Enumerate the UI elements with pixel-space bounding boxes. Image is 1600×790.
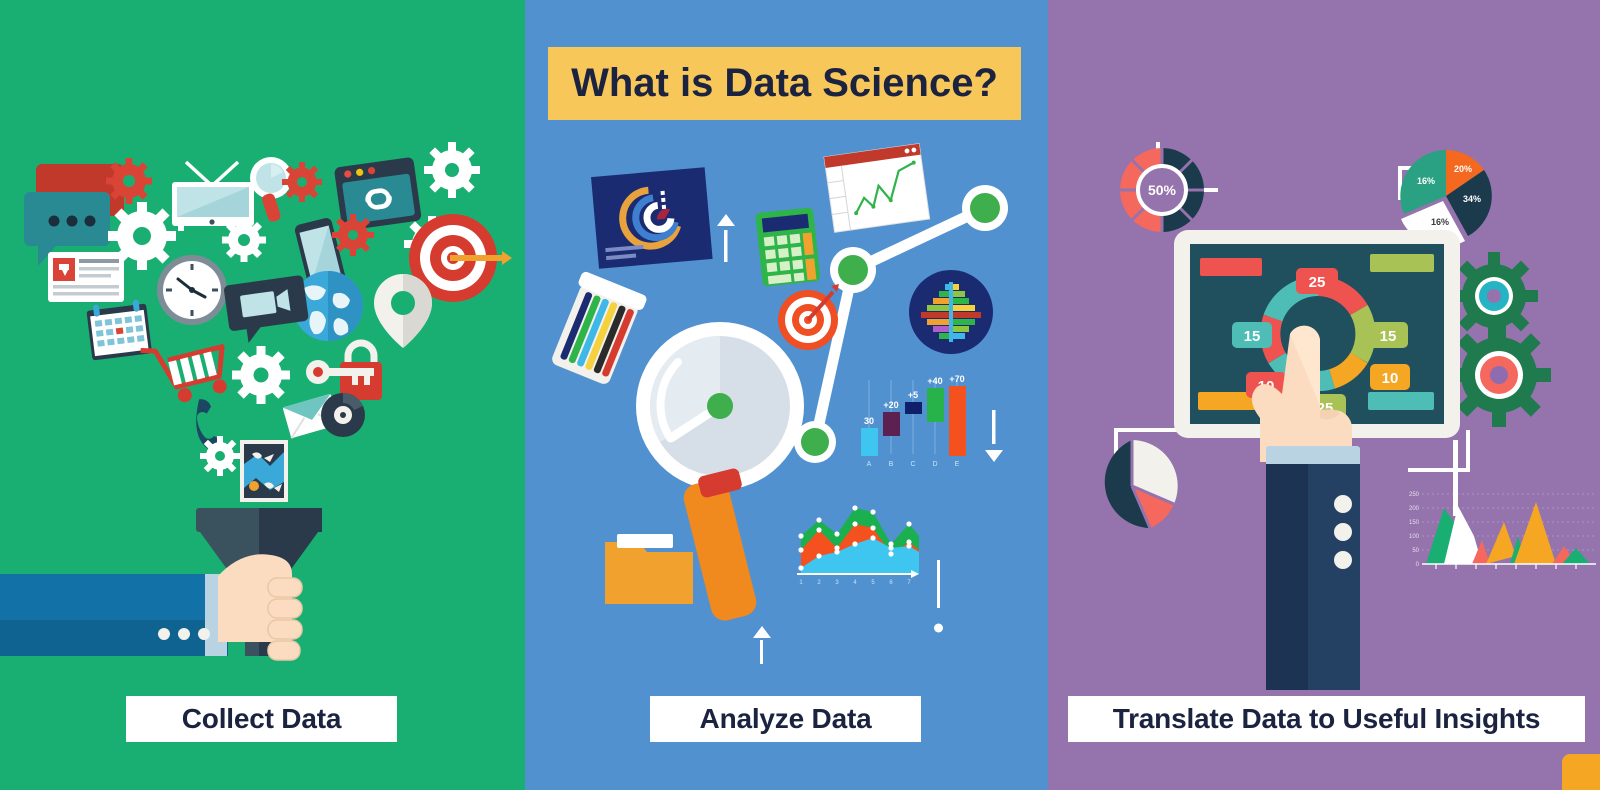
gear-white-tiny-icon [200,436,240,476]
caption-translate-data: Translate Data to Useful Insights [1068,696,1585,742]
panel-translate-data: 50% 20% 34% 16% 16% [1048,0,1600,790]
title-banner: What is Data Science? [548,47,1021,120]
gear-red-small-2-icon [282,162,322,202]
svg-text:+40: +40 [927,376,942,386]
gear-red-small-3-icon [332,214,374,256]
svg-text:5: 5 [871,580,875,586]
folder-icon [603,528,695,604]
caption-collect-data: Collect Data [126,696,397,742]
mountain-area-chart-icon: 250200150 100500 [1400,484,1600,582]
pointer-line [1453,440,1458,516]
gear-white-lower-icon [232,346,290,404]
panel-analyze-data: 30+20+5 +40+70 ABC DE [525,0,1048,790]
arrow-down-icon [983,408,1005,464]
svg-text:+5: +5 [908,390,918,400]
svg-text:3: 3 [835,580,839,586]
area-chart-icon: 1234 567 [793,490,923,590]
svg-text:7: 7 [907,580,911,586]
svg-text:0: 0 [1416,562,1420,568]
svg-text:30: 30 [864,416,874,426]
arrow-up-bottom-icon [751,624,773,666]
title-text: What is Data Science? [571,61,998,106]
divider-line-icon [933,560,945,640]
caption-analyze-label: Analyze Data [700,703,872,735]
svg-text:50%: 50% [1148,182,1177,198]
svg-text:+70: +70 [949,374,964,384]
sleeve-right-buttons-icon [1326,490,1360,580]
corner-accent [1562,754,1600,790]
svg-text:B: B [889,461,894,468]
infographic-root: Collect Data [0,0,1600,790]
gear-white-right-icon [424,142,480,198]
caption-collect-label: Collect Data [182,703,341,735]
caption-translate-label: Translate Data to Useful Insights [1113,703,1541,735]
svg-text:A: A [867,461,872,468]
svg-text:150: 150 [1409,520,1420,526]
svg-text:2: 2 [817,580,821,586]
video-chat-icon [228,276,308,342]
svg-text:100: 100 [1409,534,1420,540]
svg-text:15: 15 [1380,328,1397,345]
svg-text:E: E [955,461,960,468]
news-card-icon [48,252,124,302]
photo-icon [240,440,288,502]
svg-text:+20: +20 [883,400,898,410]
gear-white-mid-icon [222,218,266,262]
svg-text:1: 1 [799,580,803,586]
waterfall-chart-icon: 30+20+5 +40+70 ABC DE [855,372,985,482]
svg-text:D: D [932,461,937,468]
donut-50-icon: 50% [1114,142,1210,238]
svg-text:6: 6 [889,580,893,586]
pyramid-chart-icon [907,268,995,356]
svg-text:C: C [910,461,915,468]
donut-chart-card-icon [593,170,711,270]
hand-pointing-icon [1244,326,1376,462]
hand-icon [210,552,320,662]
arrow-up-icon [715,212,737,264]
clock-icon [154,252,230,328]
svg-text:50: 50 [1412,548,1419,554]
svg-text:16%: 16% [1431,217,1449,227]
svg-text:250: 250 [1409,492,1420,498]
svg-text:20%: 20% [1454,164,1472,174]
svg-text:10: 10 [1382,370,1399,387]
shopping-cart-icon [140,330,232,404]
svg-text:4: 4 [853,580,857,586]
panel-collect-data: Collect Data [0,0,525,790]
svg-text:34%: 34% [1463,194,1481,204]
vinyl-record-icon [320,392,366,438]
svg-text:16%: 16% [1417,176,1435,186]
svg-text:25: 25 [1309,274,1326,291]
svg-text:200: 200 [1409,506,1420,512]
pie-three-slice-icon [1080,434,1184,538]
gear-red-small-icon [106,158,152,204]
gear-coral-icon [1444,320,1554,430]
sleeve-right-shade [1266,464,1308,690]
caption-analyze-data: Analyze Data [650,696,921,742]
